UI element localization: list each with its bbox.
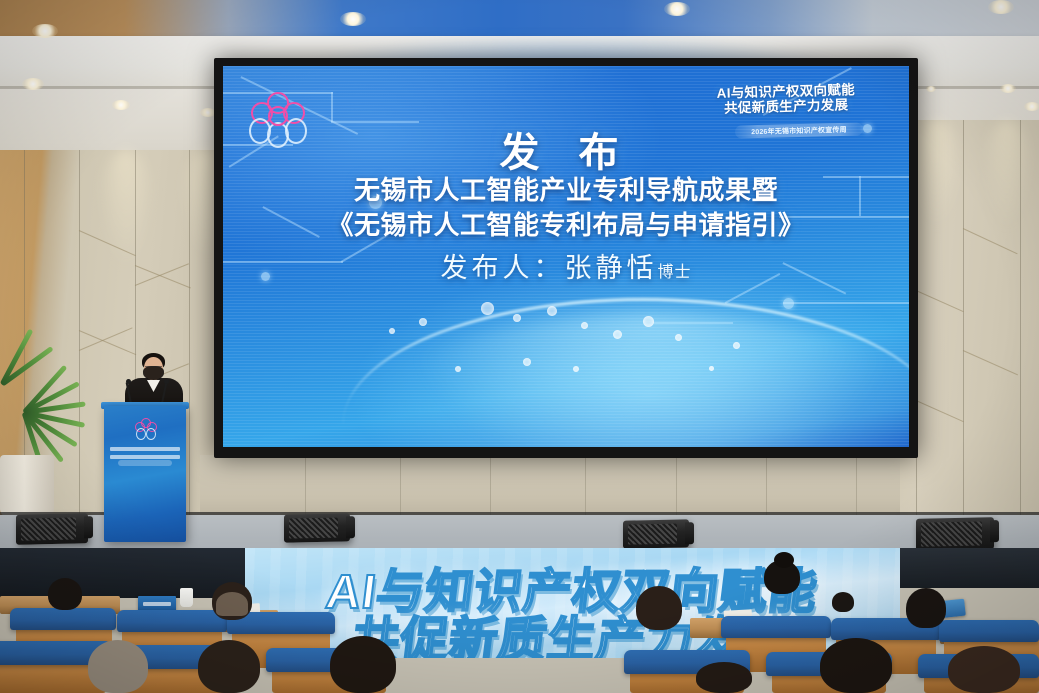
ceiling-downlight [926,86,936,92]
speaker-wedge [346,516,355,538]
wall-seam [766,455,767,517]
nameplate-text-bar [143,602,171,606]
stage-monitor-speaker [623,519,689,548]
screen-presenter-degree: 博士 [657,264,691,281]
screen-subtitle-line1: 无锡市人工智能产业专利导航成果暨 [223,170,909,207]
wall-seam [676,455,677,517]
podium-banner-line1 [110,447,180,451]
screen-bubble [481,302,494,315]
plant-pot [0,455,54,517]
ceiling-downlight [1024,102,1039,111]
speaker-glasses [145,366,162,371]
wall-seam [490,455,491,517]
screen-bubble [613,330,622,339]
stage-monitor-speaker [916,517,994,551]
screen-bubble [523,358,531,366]
audience-shadow-right [900,548,1039,588]
audience-head [636,586,682,630]
screen-bubble [581,322,588,329]
audience-seat [939,620,1039,642]
screen-presenter-name: 发布人：张静恬 [440,253,657,283]
speaker-grille [21,517,76,540]
wall-seam [856,455,857,517]
speaker-grille [628,524,677,545]
audience-seat [721,616,831,638]
screen-bubble [643,316,654,327]
screen-bubble [675,334,682,341]
ceiling-downlight [340,12,366,26]
screen-bubble [733,342,740,349]
audience-head [330,636,396,693]
audience-head [216,592,248,616]
audience-head [948,646,1020,693]
desk-nameplate [138,596,176,611]
ceiling-downlight [988,0,1014,14]
circuit-trace [331,92,333,122]
audience-head [832,592,854,612]
screen-subtitle-line2: 《无锡市人工智能专利布局与申请指引》 [223,205,909,242]
wall-seam [1020,120,1021,550]
audience-head [774,552,794,568]
screen-wave-arc [343,298,909,447]
stage-monitor-speaker [284,513,350,542]
paper-cup [180,588,193,607]
wall-seam [305,455,306,517]
stage-monitor-speaker [16,513,88,545]
circuit-trace [783,302,909,304]
circuit-node [783,298,794,309]
screen-bubble [547,306,557,316]
emblem-petal [146,428,156,440]
wall-seam [585,455,586,517]
audience-head [906,588,946,628]
ceiling-downlight [112,100,130,110]
emblem-petal [136,428,146,440]
audience-seat [117,610,227,632]
screen-bubble [419,318,427,326]
screen-bubble [389,328,395,334]
ceiling-downlight [664,2,690,16]
palm-frond [0,329,33,386]
screen-presenter-line: 发布人：张静恬博士 [223,246,909,285]
speaker-wedge [990,520,999,542]
wall-seam [963,120,964,550]
screen-bubble [455,366,461,372]
speaker-grille [289,518,338,539]
screen-bubble [513,314,521,322]
audience-head [820,638,892,693]
audience-head [198,640,260,693]
speaker-wedge [685,522,694,544]
audience-seat [10,608,116,630]
speaker-wedge [84,516,93,538]
ceiling-downlight [32,24,58,38]
audience-head [696,662,752,693]
ceiling-downlight [1000,84,1016,93]
speaker-grille [921,521,982,546]
ceiling-downlight [22,78,44,90]
screen-bubble [573,366,579,372]
conference-hall-photo: AI与知识产权双向赋能 共促新质生产力发展 2026年无锡市知识产权宣传周 发 … [0,0,1039,693]
ceiling-upper-plane [0,0,1039,40]
wall-seam [400,455,401,517]
screen-slogan: AI与知识产权双向赋能 共促新质生产力发展 [686,81,887,117]
podium-banner-subbar [118,460,172,466]
podium-microphone-head [164,379,169,384]
audience-head [88,640,148,693]
audience-head [48,578,82,610]
audience-shadow-left [0,548,245,598]
podium-emblem [134,418,156,440]
podium-banner-line2 [110,455,180,459]
wall-seam [189,150,190,550]
podium-microphone-head [126,379,131,384]
screen-bubble [709,366,714,371]
